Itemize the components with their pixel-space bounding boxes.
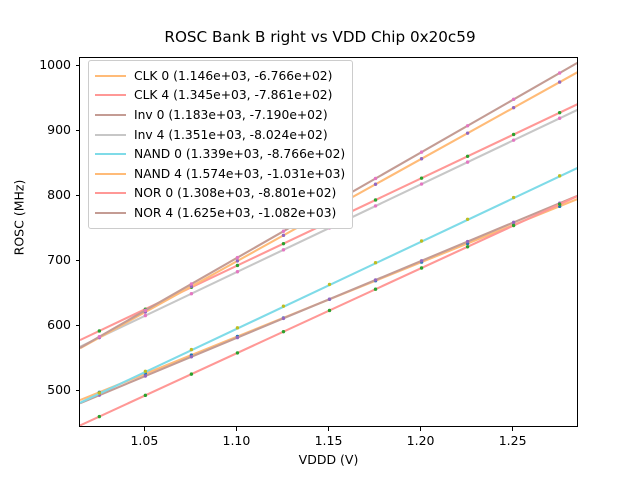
- legend-label: Inv 0 (1.183e+03, -7.190e+02): [134, 108, 328, 122]
- data-point: [512, 224, 515, 227]
- x-tick-label: 1.10: [196, 433, 276, 448]
- data-point: [328, 283, 331, 286]
- data-point: [98, 329, 101, 332]
- data-point: [282, 242, 285, 245]
- x-tick-mark: [328, 427, 329, 431]
- data-point: [282, 304, 285, 307]
- data-point: [466, 131, 469, 134]
- data-point: [236, 259, 239, 262]
- data-point: [420, 266, 423, 269]
- y-tick-label: 500: [0, 382, 71, 397]
- data-point: [466, 218, 469, 221]
- data-point: [236, 326, 239, 329]
- x-tick-label: 1.25: [473, 433, 553, 448]
- x-axis-label: VDDD (V): [79, 452, 578, 467]
- x-tick-label: 1.20: [381, 433, 461, 448]
- data-point: [190, 282, 193, 285]
- data-point: [282, 330, 285, 333]
- data-point: [374, 177, 377, 180]
- data-point: [144, 374, 147, 377]
- data-point: [282, 234, 285, 237]
- x-tick-mark: [144, 427, 145, 431]
- data-point: [236, 270, 239, 273]
- chart-legend: CLK 0 (1.146e+03, -6.766e+02)CLK 4 (1.34…: [88, 60, 353, 229]
- data-point: [144, 309, 147, 312]
- data-point: [282, 317, 285, 320]
- data-point: [190, 355, 193, 358]
- legend-line-swatch: [95, 192, 126, 194]
- data-point: [98, 391, 101, 394]
- data-point: [466, 155, 469, 158]
- data-point: [190, 348, 193, 351]
- data-point: [466, 245, 469, 248]
- y-axis-label: ROSC (MHz): [12, 158, 27, 278]
- legend-line-swatch: [95, 75, 126, 77]
- data-point: [558, 80, 561, 83]
- y-tick-mark: [76, 130, 80, 131]
- data-point: [190, 372, 193, 375]
- y-tick-mark: [76, 65, 80, 66]
- data-point: [420, 239, 423, 242]
- data-point: [558, 111, 561, 114]
- legend-label: NOR 4 (1.625e+03, -1.082e+03): [134, 206, 336, 220]
- data-point: [558, 71, 561, 74]
- data-point: [236, 336, 239, 339]
- legend-label: CLK 0 (1.146e+03, -6.766e+02): [134, 69, 332, 83]
- data-point: [466, 124, 469, 127]
- data-point: [144, 370, 147, 373]
- y-tick-label: 900: [0, 122, 71, 137]
- legend-line-swatch: [95, 153, 126, 155]
- x-tick-mark: [512, 427, 513, 431]
- chart-title: ROSC Bank B right vs VDD Chip 0x20c59: [0, 28, 640, 46]
- data-point: [420, 176, 423, 179]
- legend-label: NOR 0 (1.308e+03, -8.801e+02): [134, 186, 336, 200]
- legend-label: NAND 4 (1.574e+03, -1.031e+03): [134, 167, 345, 181]
- data-point: [144, 394, 147, 397]
- legend-label: NAND 0 (1.339e+03, -8.766e+02): [134, 147, 345, 161]
- data-point: [512, 133, 515, 136]
- data-point: [374, 261, 377, 264]
- data-point: [466, 240, 469, 243]
- y-tick-label: 1000: [0, 57, 71, 72]
- data-point: [282, 248, 285, 251]
- legend-line-swatch: [95, 114, 126, 116]
- data-point: [282, 230, 285, 233]
- chart-figure: ROSC Bank B right vs VDD Chip 0x20c59 50…: [0, 0, 640, 480]
- legend-line-swatch: [95, 134, 126, 136]
- data-point: [374, 183, 377, 186]
- x-tick-label: 1.05: [104, 433, 184, 448]
- data-point: [98, 415, 101, 418]
- legend-item-inv-0: Inv 0 (1.183e+03, -7.190e+02): [95, 105, 345, 125]
- x-tick-label: 1.15: [289, 433, 369, 448]
- legend-item-inv-4: Inv 4 (1.351e+03, -8.024e+02): [95, 125, 345, 145]
- data-point: [512, 106, 515, 109]
- data-point: [466, 160, 469, 163]
- legend-label: Inv 4 (1.351e+03, -8.024e+02): [134, 128, 328, 142]
- data-point: [374, 198, 377, 201]
- data-point: [374, 204, 377, 207]
- legend-item-clk-0: CLK 0 (1.146e+03, -6.766e+02): [95, 66, 345, 86]
- legend-item-nand-4: NAND 4 (1.574e+03, -1.031e+03): [95, 164, 345, 184]
- data-point: [328, 309, 331, 312]
- legend-label: CLK 4 (1.345e+03, -7.861e+02): [134, 88, 332, 102]
- x-tick-mark: [420, 427, 421, 431]
- x-tick-mark: [236, 427, 237, 431]
- data-point: [420, 259, 423, 262]
- y-tick-mark: [76, 390, 80, 391]
- y-tick-label: 600: [0, 317, 71, 332]
- data-point: [328, 297, 331, 300]
- data-point: [190, 292, 193, 295]
- legend-line-swatch: [95, 173, 126, 175]
- data-point: [420, 150, 423, 153]
- data-point: [512, 138, 515, 141]
- y-tick-mark: [76, 325, 80, 326]
- y-tick-mark: [76, 260, 80, 261]
- data-point: [144, 314, 147, 317]
- y-tick-mark: [76, 195, 80, 196]
- data-point: [512, 98, 515, 101]
- legend-item-clk-4: CLK 4 (1.345e+03, -7.861e+02): [95, 86, 345, 106]
- data-point: [374, 288, 377, 291]
- data-point: [558, 117, 561, 120]
- data-point: [236, 264, 239, 267]
- legend-item-nor-0: NOR 0 (1.308e+03, -8.801e+02): [95, 184, 345, 204]
- data-point: [236, 351, 239, 354]
- data-point: [420, 182, 423, 185]
- data-point: [420, 157, 423, 160]
- legend-item-nand-0: NAND 0 (1.339e+03, -8.766e+02): [95, 144, 345, 164]
- data-point: [512, 221, 515, 224]
- data-point: [98, 335, 101, 338]
- legend-line-swatch: [95, 94, 126, 96]
- data-point: [558, 203, 561, 206]
- data-point: [374, 278, 377, 281]
- data-point: [236, 256, 239, 259]
- legend-line-swatch: [95, 212, 126, 214]
- data-point: [558, 174, 561, 177]
- data-point: [512, 196, 515, 199]
- legend-item-nor-4: NOR 4 (1.625e+03, -1.082e+03): [95, 203, 345, 223]
